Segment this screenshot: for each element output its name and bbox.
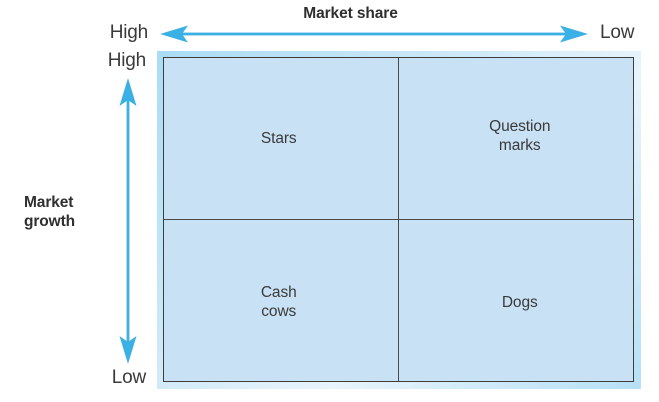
market-growth-axis-title: Market growth xyxy=(24,193,124,231)
bcg-matrix-diagram: Market share High Low Market growth High… xyxy=(0,0,659,402)
market-growth-high-label: High xyxy=(74,50,146,72)
market-growth-double-arrow-icon xyxy=(118,78,138,364)
quadrant-dogs[interactable]: Dogs xyxy=(399,220,634,382)
quadrant-cash-cows-label: Cash cows xyxy=(261,283,297,321)
matrix-outer-frame: Stars Question marks Cash cows Dogs xyxy=(157,51,641,389)
quadrant-question-marks[interactable]: Question marks xyxy=(399,58,634,220)
quadrant-stars[interactable]: Stars xyxy=(164,58,399,220)
quadrant-question-marks-label: Question marks xyxy=(489,117,550,155)
matrix-grid: Stars Question marks Cash cows Dogs xyxy=(163,57,634,382)
quadrant-stars-label: Stars xyxy=(261,129,297,148)
market-growth-low-label: Low xyxy=(74,367,146,389)
quadrant-cash-cows[interactable]: Cash cows xyxy=(164,220,399,382)
market-share-low-label: Low xyxy=(600,22,656,44)
market-share-axis-title: Market share xyxy=(0,4,659,23)
market-share-high-label: High xyxy=(82,22,148,44)
market-share-double-arrow-icon xyxy=(160,24,588,44)
quadrant-dogs-label: Dogs xyxy=(502,293,538,312)
